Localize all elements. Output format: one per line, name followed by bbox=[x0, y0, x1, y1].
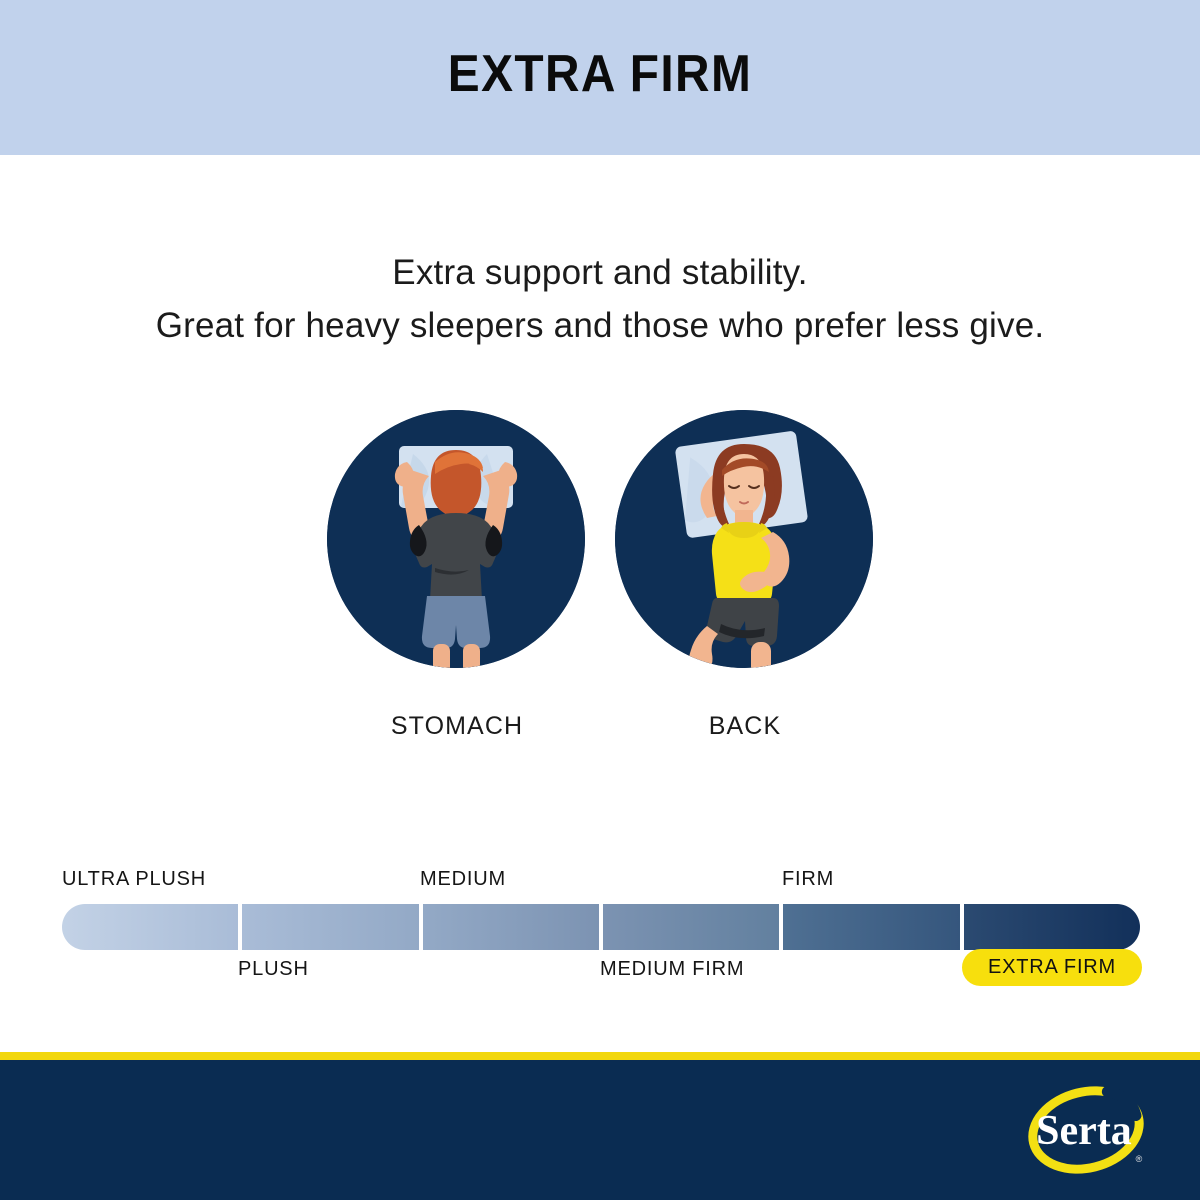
sleeper-label-back: BACK bbox=[615, 712, 875, 741]
sleeper-stomach: STOMACH bbox=[327, 410, 587, 741]
firmness-scale-top-labels: ULTRA PLUSH MEDIUM FIRM bbox=[62, 866, 1140, 900]
firmness-label-ultra-plush: ULTRA PLUSH bbox=[62, 868, 206, 891]
firmness-segment-medium-firm[interactable] bbox=[603, 904, 779, 950]
firmness-scale-bottom-labels: PLUSH MEDIUM FIRM EXTRA FIRM bbox=[62, 952, 1140, 986]
footer-accent-stripe bbox=[0, 1052, 1200, 1060]
firmness-label-firm: FIRM bbox=[782, 868, 834, 891]
sleeper-label-stomach: STOMACH bbox=[327, 712, 587, 741]
back-sleeper-icon bbox=[615, 410, 873, 668]
serta-logo: Serta ® bbox=[1020, 1078, 1152, 1182]
page-title: EXTRA FIRM bbox=[48, 44, 1152, 104]
firmness-label-plush: PLUSH bbox=[238, 958, 309, 981]
firmness-label-extra-firm-selected: EXTRA FIRM bbox=[962, 949, 1142, 986]
sleeper-positions: STOMACH bbox=[0, 410, 1200, 750]
stomach-sleeper-icon bbox=[327, 410, 585, 668]
subtitle-line-1: Extra support and stability. bbox=[0, 246, 1200, 299]
header-band: EXTRA FIRM bbox=[0, 0, 1200, 155]
sleeper-back: BACK bbox=[615, 410, 875, 741]
firmness-scale: ULTRA PLUSH MEDIUM FIRM PLUSH MEDIUM FIR… bbox=[62, 866, 1140, 986]
extra-firm-infographic: EXTRA FIRM Extra support and stability. … bbox=[0, 0, 1200, 1200]
svg-text:®: ® bbox=[1136, 1154, 1143, 1164]
firmness-label-medium-firm: MEDIUM FIRM bbox=[600, 958, 744, 981]
firmness-segment-ultra-plush[interactable] bbox=[62, 904, 238, 950]
svg-text:Serta: Serta bbox=[1036, 1108, 1132, 1154]
firmness-scale-bar[interactable] bbox=[62, 904, 1140, 950]
footer-band: Serta ® bbox=[0, 1060, 1200, 1200]
subtitle: Extra support and stability. Great for h… bbox=[0, 246, 1200, 352]
firmness-segment-plush[interactable] bbox=[242, 904, 418, 950]
firmness-segment-extra-firm[interactable] bbox=[964, 904, 1140, 950]
firmness-label-medium: MEDIUM bbox=[420, 868, 506, 891]
firmness-segment-firm[interactable] bbox=[783, 904, 959, 950]
subtitle-line-2: Great for heavy sleepers and those who p… bbox=[0, 299, 1200, 352]
firmness-segment-medium[interactable] bbox=[423, 904, 599, 950]
